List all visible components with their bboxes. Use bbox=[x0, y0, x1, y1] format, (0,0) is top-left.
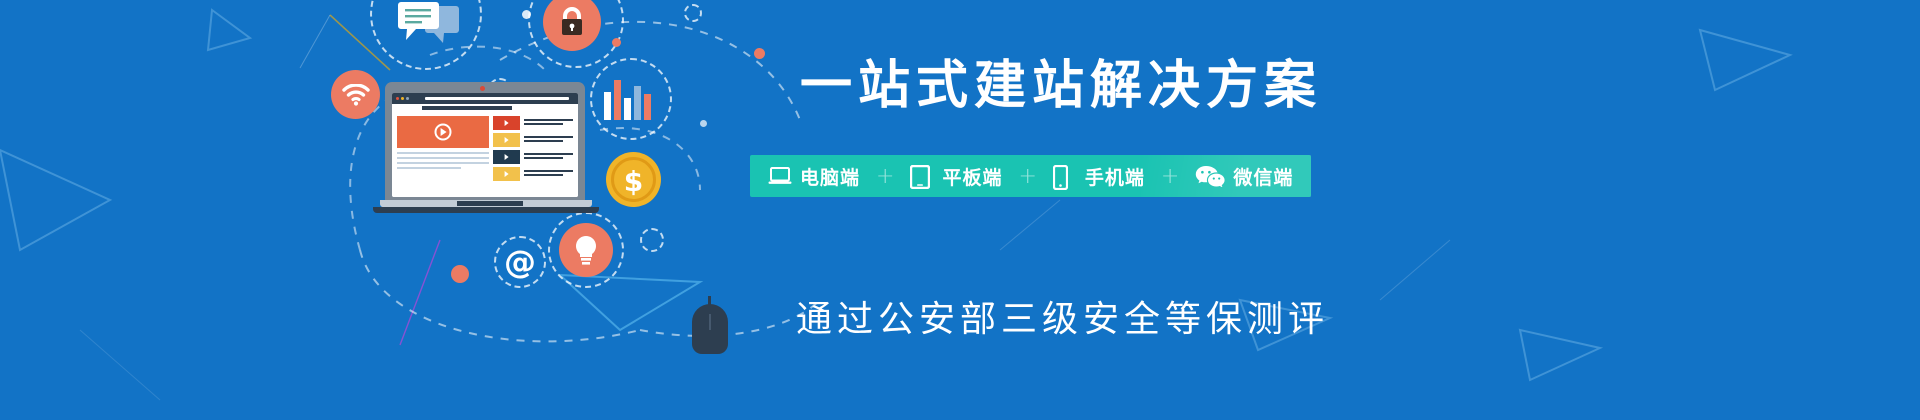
laptop-icon bbox=[768, 165, 792, 187]
platform-label: 平板端 bbox=[942, 163, 1002, 190]
list-item-lines bbox=[524, 170, 573, 178]
chat-bubble-icon bbox=[398, 2, 460, 52]
laptop-illustration bbox=[385, 82, 595, 212]
browser-dot-yellow bbox=[401, 97, 404, 100]
plus-separator: + bbox=[1149, 164, 1191, 189]
video-player-thumbnail bbox=[397, 116, 489, 148]
video-thumb-icon bbox=[493, 167, 520, 181]
page-sidebar-list bbox=[493, 116, 573, 193]
tablet-icon bbox=[910, 165, 934, 187]
lightbulb-icon bbox=[559, 223, 613, 277]
promo-banner: $ @ bbox=[0, 0, 1920, 420]
laptop-trackpad-notch bbox=[457, 201, 523, 206]
browser-page-content bbox=[392, 112, 578, 197]
platform-item-mobile[interactable]: 手机端 bbox=[1049, 163, 1149, 190]
plus-separator: + bbox=[864, 164, 906, 189]
accent-dot-e bbox=[700, 120, 707, 127]
accent-dot-a bbox=[612, 38, 621, 47]
wechat-icon bbox=[1195, 165, 1225, 187]
accent-dot-b bbox=[451, 265, 469, 283]
list-item bbox=[493, 167, 573, 181]
page-main-column bbox=[397, 116, 489, 193]
browser-dot-grey bbox=[406, 97, 409, 100]
mouse-icon bbox=[692, 296, 728, 354]
bar-chart-icon bbox=[604, 78, 660, 120]
browser-titlebar bbox=[392, 93, 578, 104]
video-thumb-icon bbox=[493, 150, 520, 164]
list-item-lines bbox=[524, 153, 573, 161]
wifi-icon bbox=[331, 70, 380, 119]
browser-subbar-line bbox=[422, 106, 512, 110]
platform-item-wechat[interactable]: 微信端 bbox=[1191, 163, 1297, 190]
plus-separator: + bbox=[1006, 164, 1048, 189]
dollar-coin-icon: $ bbox=[606, 152, 661, 207]
platform-item-tablet[interactable]: 平板端 bbox=[906, 163, 1006, 190]
svg-text:$: $ bbox=[624, 165, 643, 198]
laptop-lid bbox=[385, 82, 585, 200]
platform-item-pc[interactable]: 电脑端 bbox=[764, 163, 864, 190]
laptop-screen bbox=[392, 93, 578, 197]
dashed-ring-small-c bbox=[640, 228, 664, 252]
list-item bbox=[493, 133, 573, 147]
list-item bbox=[493, 150, 573, 164]
play-triangle-icon bbox=[440, 128, 446, 136]
laptop-foot bbox=[373, 207, 599, 213]
mouse-body bbox=[692, 304, 728, 354]
platform-label: 微信端 bbox=[1233, 163, 1293, 190]
laptop-camera-dot bbox=[480, 86, 485, 91]
page-title: 一站式建站解决方案 bbox=[800, 58, 1322, 115]
video-thumb-icon bbox=[493, 116, 520, 130]
platform-label: 手机端 bbox=[1085, 163, 1145, 190]
platform-label: 电脑端 bbox=[800, 163, 860, 190]
phone-icon bbox=[1053, 165, 1077, 187]
accent-dot-c bbox=[522, 10, 531, 19]
browser-url-bar bbox=[425, 97, 569, 100]
banner-content: 一站式建站解决方案 电脑端 + bbox=[748, 0, 1920, 420]
mouse-button-split bbox=[709, 314, 711, 330]
platform-badge-bar: 电脑端 + 平板端 + bbox=[750, 155, 1311, 197]
banner-subtitle: 通过公安部三级安全等保测评 bbox=[796, 290, 1329, 342]
at-sign-icon: @ bbox=[500, 242, 540, 282]
list-item bbox=[493, 116, 573, 130]
video-thumb-icon bbox=[493, 133, 520, 147]
page-text-lines bbox=[397, 152, 489, 169]
browser-dot-red bbox=[396, 97, 399, 100]
dashed-ring-small-d bbox=[684, 4, 702, 22]
browser-subbar bbox=[392, 104, 578, 112]
list-item-lines bbox=[524, 119, 573, 127]
list-item-lines bbox=[524, 136, 573, 144]
